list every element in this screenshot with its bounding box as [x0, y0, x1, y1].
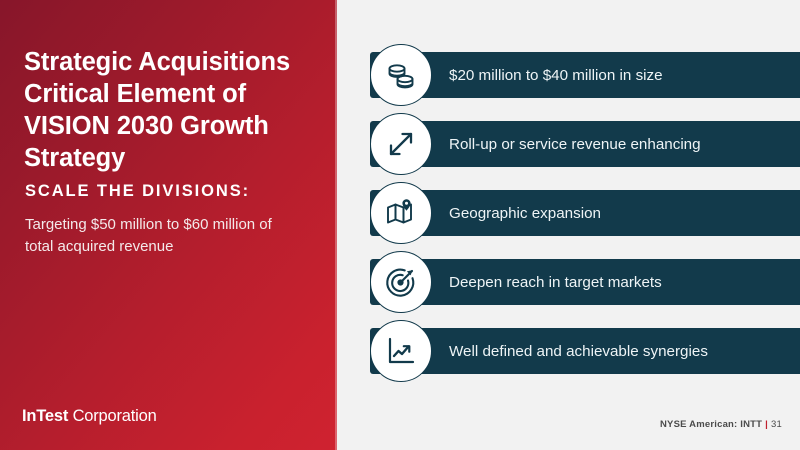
list-item[interactable]: Roll-up or service revenue enhancing: [337, 121, 800, 167]
slide-root: Strategic Acquisitions Critical Element …: [0, 0, 800, 450]
bullet-label: Geographic expansion: [449, 190, 601, 236]
left-red-panel: Strategic Acquisitions Critical Element …: [0, 0, 337, 450]
expand-arrows-icon: [370, 113, 432, 175]
target-arrow-icon: [370, 251, 432, 313]
growth-chart-icon: [370, 320, 432, 382]
footer-listing-info: NYSE American: INTT|31: [660, 419, 782, 430]
bullet-label: Well defined and achievable synergies: [449, 328, 708, 374]
bullet-label: Roll-up or service revenue enhancing: [449, 121, 701, 167]
page-title: Strategic Acquisitions Critical Element …: [24, 46, 314, 175]
coins-icon: [370, 44, 432, 106]
map-pin-icon: [370, 182, 432, 244]
stock-listing: NYSE American: INTT: [660, 419, 762, 430]
logo-corporation-text: Corporation: [73, 407, 157, 425]
body-paragraph: Targeting $50 million to $60 million of …: [25, 214, 295, 258]
bullet-label: $20 million to $40 million in size: [449, 52, 663, 98]
page-number: 31: [771, 419, 782, 430]
footer-separator: |: [765, 419, 768, 430]
logo-brand: InTest: [22, 407, 68, 425]
list-item[interactable]: Geographic expansion: [337, 190, 800, 236]
company-logo: InTest Corporation: [22, 407, 157, 426]
list-item[interactable]: Well defined and achievable synergies: [337, 328, 800, 374]
list-item[interactable]: $20 million to $40 million in size: [337, 52, 800, 98]
bullet-label: Deepen reach in target markets: [449, 259, 662, 305]
bullet-list: $20 million to $40 million in size Roll-…: [337, 0, 800, 450]
section-subtitle: SCALE THE DIVISIONS:: [25, 182, 250, 201]
list-item[interactable]: Deepen reach in target markets: [337, 259, 800, 305]
